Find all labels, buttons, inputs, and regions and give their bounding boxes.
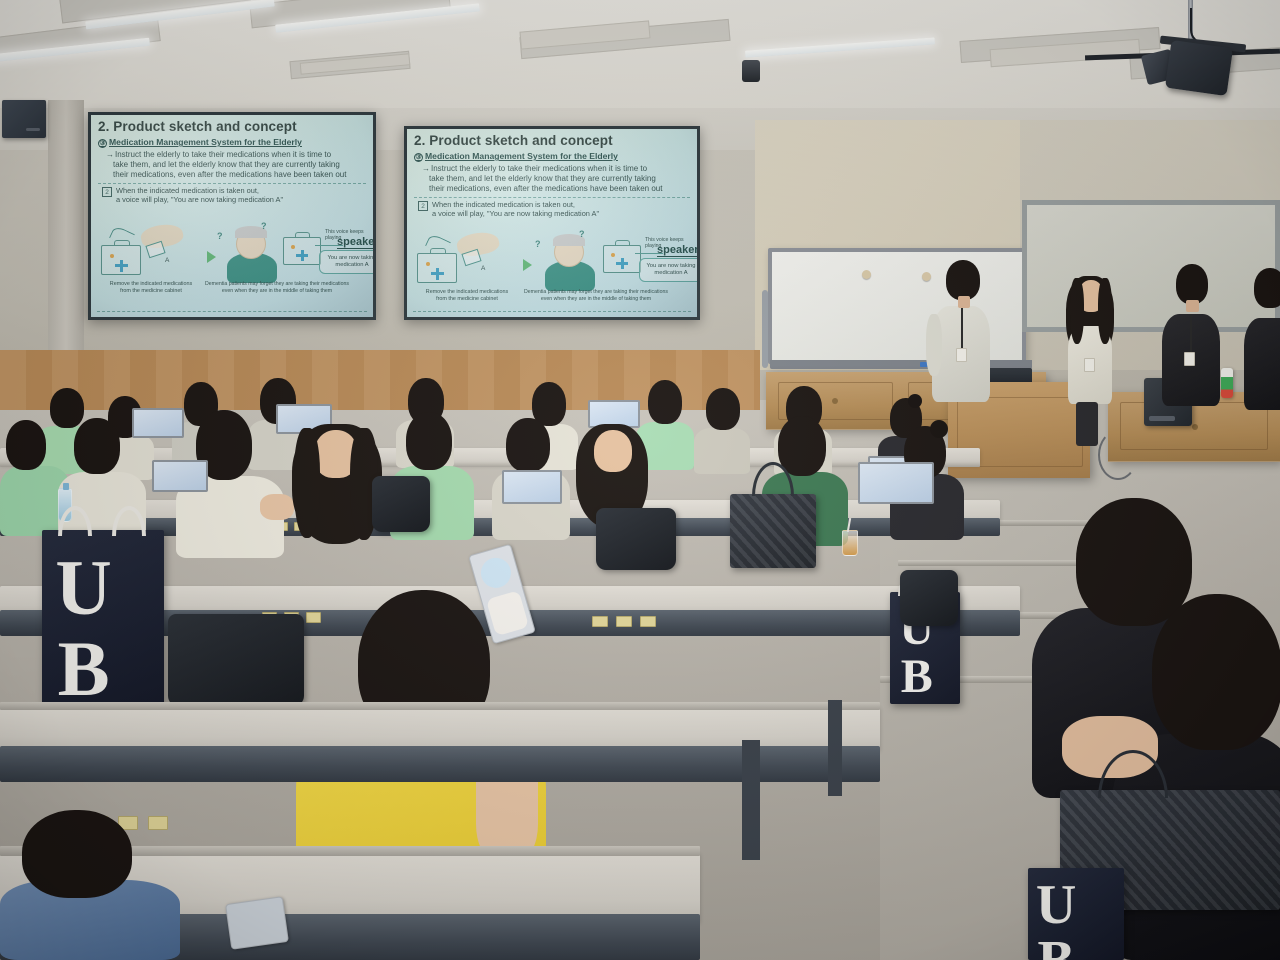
student-back-8 (694, 388, 750, 468)
lecture-hall-scene: 2. Product sketch and concept ③ Medicati… (0, 0, 1280, 960)
backpack (372, 476, 430, 532)
iced-drink-cup (842, 530, 858, 556)
student-badge (1184, 352, 1195, 366)
handbag (730, 494, 816, 568)
question-mark-icon: ? (217, 231, 223, 241)
step-number-box: 2 (418, 201, 428, 211)
medicine-cabinet-speaker-icon (283, 237, 321, 265)
slide-left: 2. Product sketch and concept ③ Medicati… (91, 115, 373, 317)
laptop[interactable] (152, 460, 208, 496)
medicine-cabinet-speaker-icon (603, 245, 641, 273)
student-foreground-left (0, 850, 180, 960)
standing-student-1 (1062, 272, 1118, 430)
slide-title: 2. Product sketch and concept (414, 134, 690, 148)
section-number: ③ (414, 153, 423, 162)
slide-body-line: take them, and let the elderly know that… (106, 160, 366, 170)
arrow-icon (425, 233, 451, 255)
whiteboard-right (1022, 200, 1280, 332)
slide-body-line: their medications, even after the medica… (106, 170, 366, 180)
phone-sticker (486, 590, 529, 636)
slide-title: 2. Product sketch and concept (98, 120, 366, 134)
step-number-box: 2 (102, 187, 112, 197)
slide-body-line: take them, and let the elderly know that… (422, 174, 690, 184)
desk-leg (828, 700, 842, 796)
slide-step-line: a voice will play, "You are now taking m… (116, 196, 283, 205)
presenter (928, 258, 992, 428)
play-triangle-icon (523, 259, 532, 271)
elderly-person-icon (543, 233, 597, 289)
laptop[interactable] (502, 470, 562, 508)
figure-caption-center: Dementia patients may forget they are ta… (202, 281, 352, 294)
question-mark-icon: ? (261, 221, 267, 231)
slide-section-heading: ③ Medication Management System for the E… (414, 151, 690, 162)
slide-body-line: →Instruct the elderly to take their medi… (422, 164, 690, 174)
question-mark-icon: ? (535, 239, 541, 249)
ceiling-camera-icon (742, 60, 760, 82)
desk-leg (742, 740, 760, 860)
student-mid-4 (292, 424, 382, 552)
smartphone-on-desk[interactable] (225, 896, 289, 950)
slide-body-line: their medications, even after the medica… (422, 184, 690, 194)
figure-caption-left: Remove the indicated medications from th… (411, 289, 523, 303)
student-badge (1084, 358, 1095, 372)
slide-step-line: a voice will play, "You are now taking m… (432, 210, 599, 219)
medicine-cabinet-icon (417, 253, 457, 283)
standing-student-2 (1160, 262, 1222, 432)
projection-screen-right: 2. Product sketch and concept ③ Medicati… (404, 126, 700, 320)
section-number: ③ (98, 139, 107, 148)
phone-sticker (477, 554, 514, 591)
whiteboard-rail (762, 290, 768, 368)
floor-cable (1098, 430, 1138, 480)
backpack (900, 570, 958, 626)
laptop[interactable] (858, 462, 934, 510)
play-triangle-icon (207, 251, 216, 263)
ceiling-projector (1130, 0, 1280, 110)
arrow-icon (109, 225, 135, 247)
slide-right: 2. Product sketch and concept ③ Medicati… (407, 129, 697, 317)
slide-figure: A Remove the indicated medications from … (97, 223, 367, 313)
pill-label: A (481, 265, 485, 272)
projection-screen-left: 2. Product sketch and concept ③ Medicati… (88, 112, 376, 320)
tote-brand-text: UBE (1032, 874, 1080, 960)
presenter-badge (956, 348, 967, 362)
figure-caption-left: Remove the indicated medications from th… (95, 281, 207, 295)
slide-body-line: →Instruct the elderly to take their medi… (106, 150, 366, 160)
slide-figure: A Remove the indicated medications from … (413, 233, 691, 313)
elderly-person-icon (225, 225, 279, 281)
ceiling-light (745, 37, 935, 57)
section-title: Medication Management System for the Eld… (109, 137, 302, 147)
voice-callout-bubble: You are now taking medication A (319, 250, 373, 274)
drink-can (1221, 368, 1233, 398)
speaker-label: speaker (337, 237, 373, 249)
slide-section-heading: ③ Medication Management System for the E… (98, 137, 366, 148)
voice-callout-bubble: You are now taking medication A (639, 258, 697, 282)
standing-student-3 (1244, 266, 1280, 432)
figure-caption-center: Dementia patients may forget they are ta… (520, 289, 672, 302)
wall-speaker-icon (2, 100, 46, 138)
pill-label: A (165, 257, 169, 264)
tote-bag-ube-foreground: UBE (1028, 868, 1124, 960)
medicine-cabinet-icon (101, 245, 141, 275)
section-title: Medication Management System for the Eld… (425, 151, 618, 161)
speaker-label: speaker (657, 245, 697, 257)
question-mark-icon: ? (579, 229, 585, 239)
